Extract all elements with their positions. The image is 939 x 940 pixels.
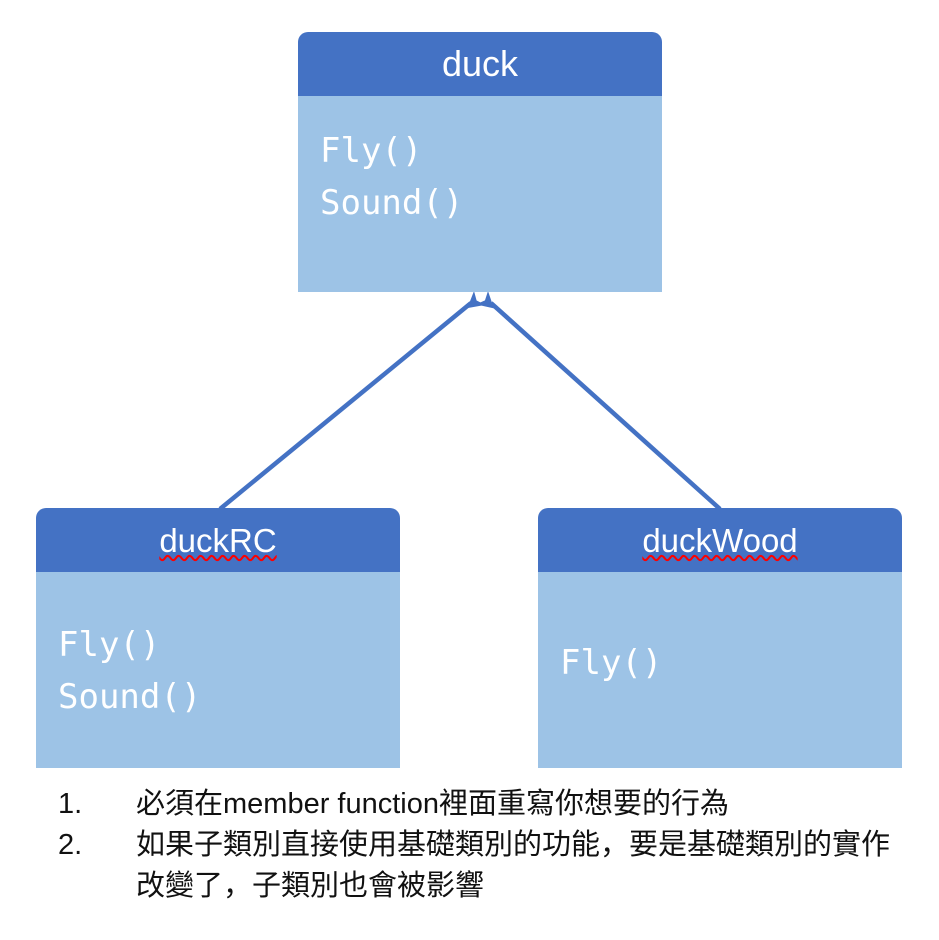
class-box-duckwood[interactable]: duckWood Fly() <box>538 508 902 768</box>
note-item: 1. 必須在member function裡面重寫你想要的行為 <box>48 784 928 825</box>
note-number: 1. <box>48 784 136 825</box>
diagram-canvas: duck Fly() Sound() duckRC Fly() Sound() … <box>0 0 939 940</box>
class-box-duckrc[interactable]: duckRC Fly() Sound() <box>36 508 400 768</box>
class-methods-duckrc: Fly() Sound() <box>36 572 400 768</box>
notes-list: 1. 必須在member function裡面重寫你想要的行為 2. 如果子類別… <box>48 784 928 908</box>
class-methods-duckwood: Fly() <box>538 572 902 768</box>
note-text: 如果子類別直接使用基礎類別的功能，要是基礎類別的實作改變了，子類別也會被影響 <box>136 825 896 907</box>
class-name-duckwood: duckWood <box>642 524 797 557</box>
arrowhead-left <box>462 291 486 315</box>
note-number: 2. <box>48 825 136 866</box>
arrowhead-right <box>476 291 500 315</box>
connector-duckwood-to-duck <box>476 291 720 509</box>
class-methods-duck: Fly() Sound() <box>298 96 662 292</box>
class-header-duck: duck <box>298 32 662 96</box>
connector-line-right <box>491 303 720 509</box>
note-item: 2. 如果子類別直接使用基礎類別的功能，要是基礎類別的實作改變了，子類別也會被影… <box>48 825 928 907</box>
class-name-duckrc: duckRC <box>159 524 276 557</box>
class-name-duck: duck <box>442 46 518 82</box>
class-header-duckwood: duckWood <box>538 508 902 572</box>
connector-duckrc-to-duck <box>220 291 485 509</box>
class-box-duck[interactable]: duck Fly() Sound() <box>298 32 662 292</box>
connector-line-left <box>220 303 471 509</box>
class-header-duckrc: duckRC <box>36 508 400 572</box>
note-text: 必須在member function裡面重寫你想要的行為 <box>136 784 896 825</box>
